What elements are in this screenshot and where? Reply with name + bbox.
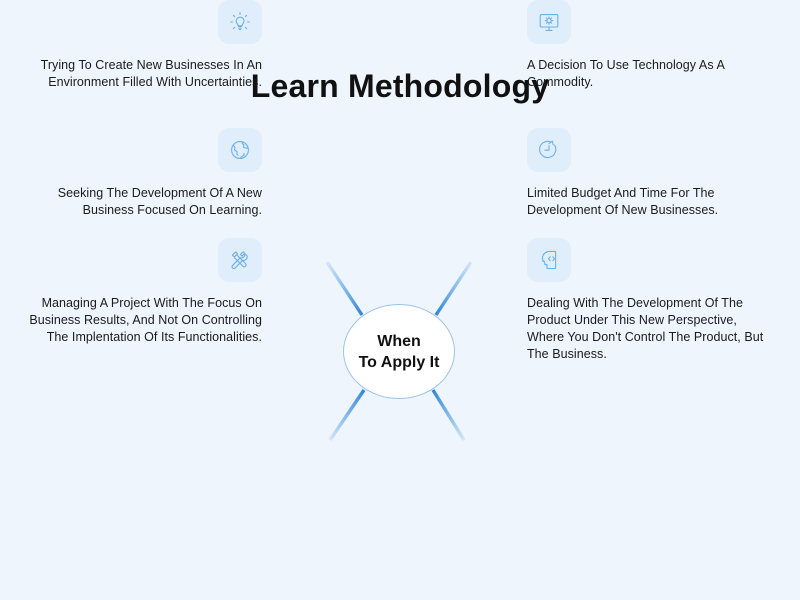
stopwatch-icon [527, 128, 571, 172]
left-item-2: Seeking The Development Of A New Busines… [17, 128, 262, 219]
lightbulb-icon [218, 0, 262, 44]
globe-icon [218, 128, 262, 172]
head-code-icon [527, 238, 571, 282]
left-item-3-text: Managing A Project With The Focus On Bus… [17, 295, 262, 346]
left-item-2-text: Seeking The Development Of A New Busines… [17, 185, 262, 219]
left-item-1-text: Trying To Create New Businesses In An En… [17, 57, 262, 91]
right-item-3: Dealing With The Development Of The Prod… [527, 238, 772, 363]
left-item-3: Managing A Project With The Focus On Bus… [17, 238, 262, 346]
monitor-gear-icon [527, 0, 571, 44]
right-item-3-text: Dealing With The Development Of The Prod… [527, 295, 772, 363]
right-item-1-text: A Decision To Use Technology As A Commod… [527, 57, 772, 91]
left-item-1: Trying To Create New Businesses In An En… [17, 0, 262, 91]
right-item-2-text: Limited Budget And Time For The Developm… [527, 185, 772, 219]
center-hub-circle: When To Apply It [343, 304, 455, 399]
tools-icon [218, 238, 262, 282]
center-hub-line2: To Apply It [359, 352, 440, 373]
right-item-2: Limited Budget And Time For The Developm… [527, 128, 772, 219]
center-hub: When To Apply It [343, 304, 455, 399]
right-item-1: A Decision To Use Technology As A Commod… [527, 0, 772, 91]
center-hub-line1: When [377, 331, 421, 352]
